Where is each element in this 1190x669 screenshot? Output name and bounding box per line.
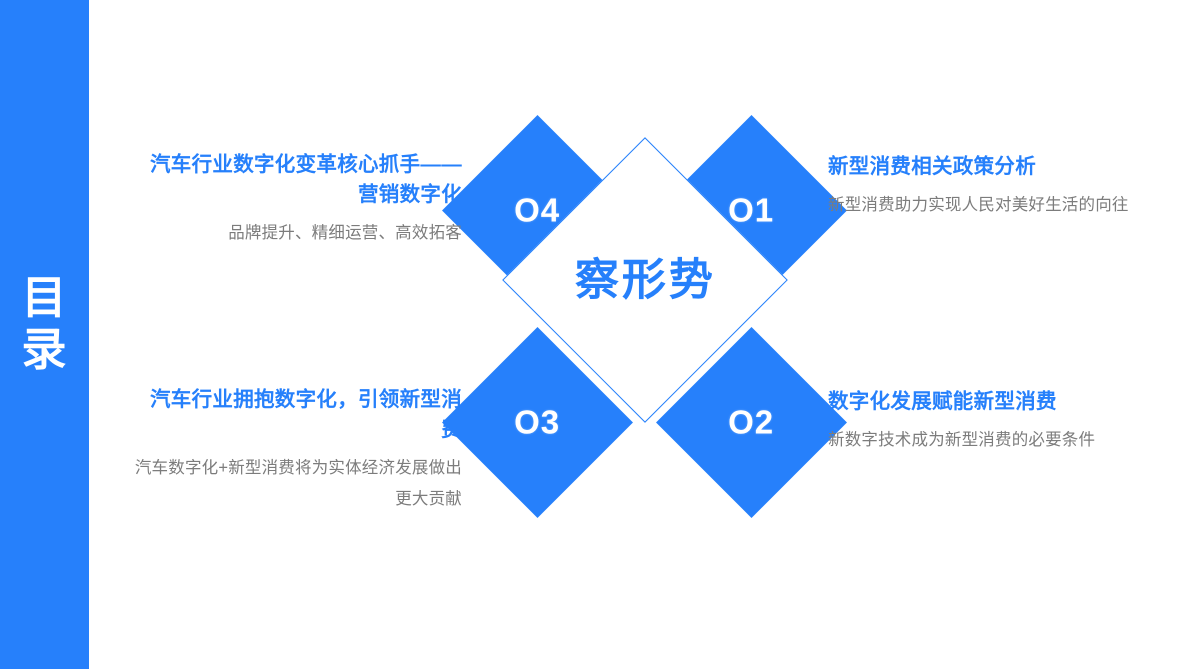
text-block-o1: 新型消费相关政策分析 新型消费助力实现人民对美好生活的向往 [828, 152, 1160, 221]
sidebar-title-char-2: 录 [0, 324, 89, 376]
text-block-o4: 汽车行业数字化变革核心抓手——营销数字化 品牌提升、精细运营、高效拓客 [130, 150, 462, 249]
center-diamond-label: 察形势 [575, 258, 716, 302]
text-block-o4-title: 汽车行业数字化变革核心抓手——营销数字化 [130, 150, 462, 210]
slide-canvas: 目 录 O4 O1 O3 O2 察形势 汽车行业数字化变革核心抓手——营销数字化… [0, 0, 1190, 669]
sidebar-title-char-1: 目 [0, 272, 89, 324]
diamond-number-o3: O3 [514, 406, 560, 439]
sidebar-contents-bar: 目 录 [0, 0, 89, 669]
diamond-cluster: O4 O1 O3 O2 察形势 [460, 135, 840, 515]
diamond-number-o1: O1 [728, 194, 774, 227]
sidebar-title-vertical: 目 录 [0, 272, 89, 376]
text-block-o3-body: 汽车数字化+新型消费将为实体经济发展做出更大贡献 [130, 453, 462, 515]
diamond-number-o4: O4 [514, 194, 560, 227]
text-block-o1-title: 新型消费相关政策分析 [828, 152, 1160, 182]
text-block-o2-title: 数字化发展赋能新型消费 [828, 387, 1160, 417]
diamond-number-o2: O2 [728, 406, 774, 439]
text-block-o4-body: 品牌提升、精细运营、高效拓客 [130, 218, 462, 249]
text-block-o2-body: 新数字技术成为新型消费的必要条件 [828, 425, 1160, 456]
text-block-o3: 汽车行业拥抱数字化，引领新型消费 汽车数字化+新型消费将为实体经济发展做出更大贡… [130, 385, 462, 515]
text-block-o2: 数字化发展赋能新型消费 新数字技术成为新型消费的必要条件 [828, 387, 1160, 456]
text-block-o3-title: 汽车行业拥抱数字化，引领新型消费 [130, 385, 462, 445]
text-block-o1-body: 新型消费助力实现人民对美好生活的向往 [828, 190, 1160, 221]
